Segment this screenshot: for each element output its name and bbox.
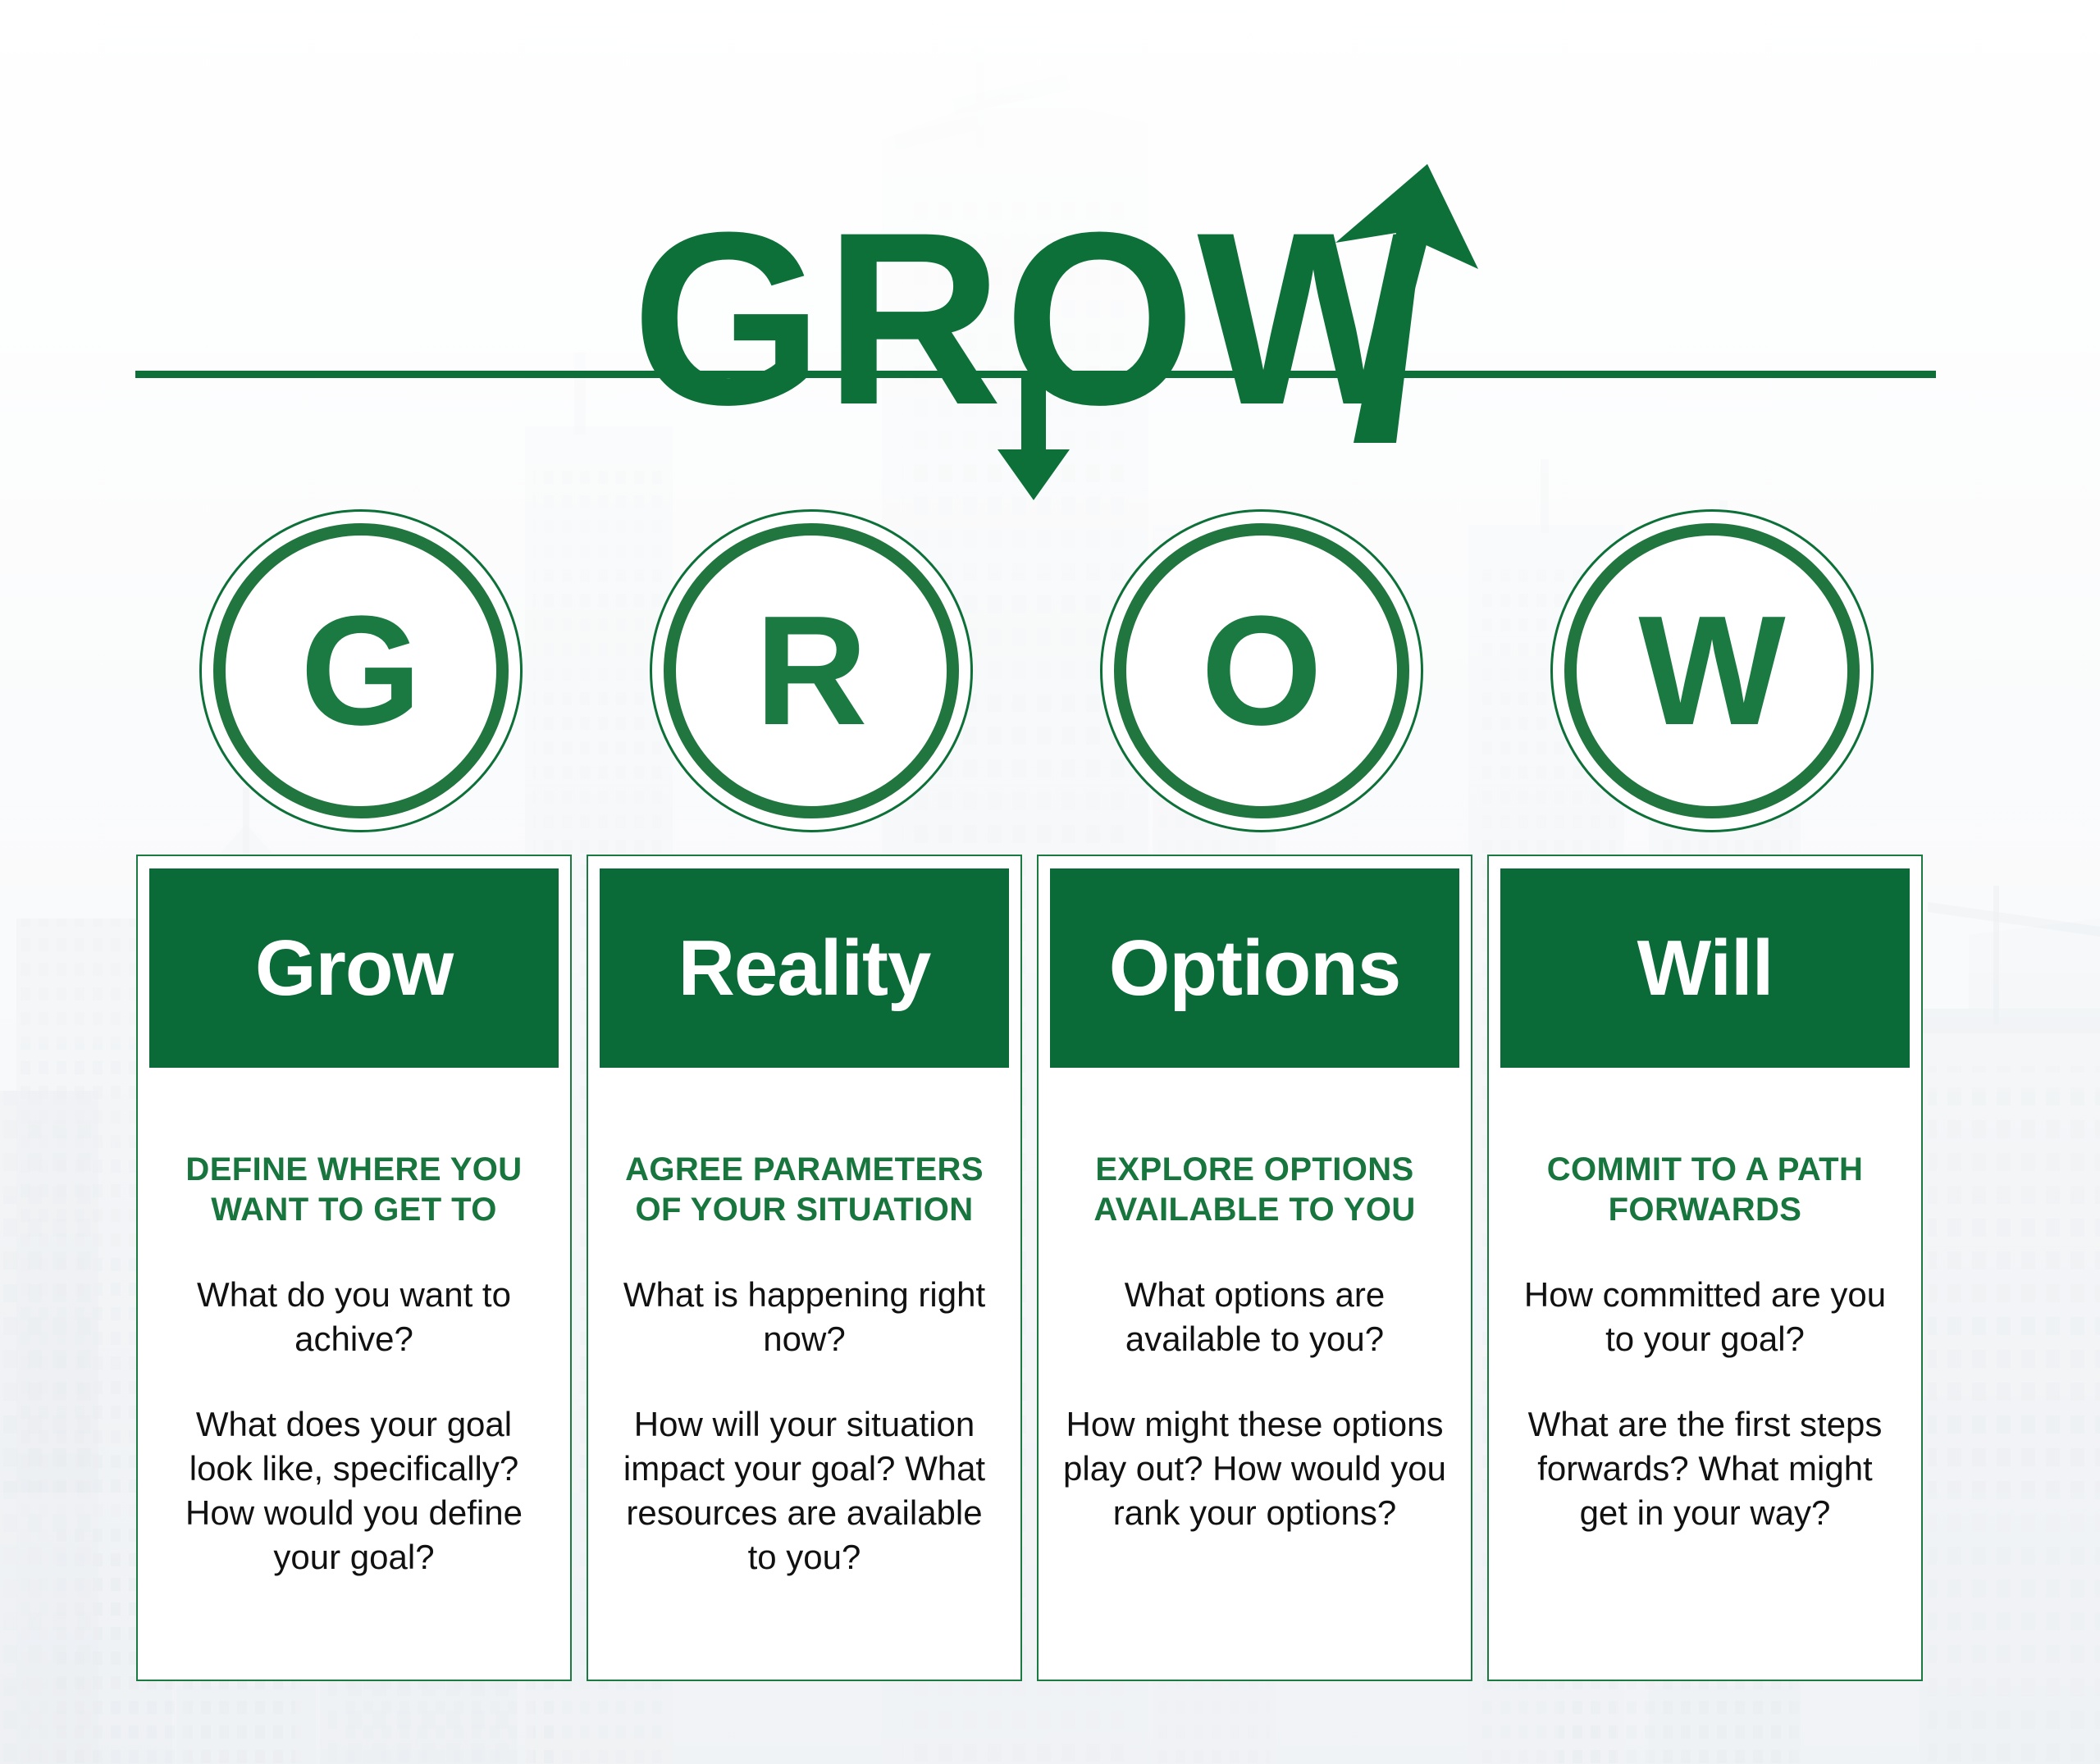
card-will[interactable]: Will COMMIT TO A PATH FORWARDS How commi… — [1487, 855, 1923, 1681]
card-paragraph-1: What options are available to you? — [1062, 1273, 1448, 1361]
card-options[interactable]: Options EXPLORE OPTIONS AVAILABLE TO YOU… — [1037, 855, 1472, 1681]
circle-letter-g: G — [300, 593, 422, 749]
letter-circle-row: G R O W — [136, 507, 1937, 835]
down-arrow-icon — [994, 376, 1073, 500]
card-header-label: Reality — [678, 928, 931, 1010]
circle-cell-r: R — [587, 507, 1036, 835]
card-header-reality: Reality — [600, 868, 1009, 1068]
card-paragraph-1: How committed are you to your goal? — [1513, 1273, 1898, 1361]
up-arrow-icon — [1304, 164, 1518, 443]
circle-cell-w: W — [1487, 507, 1937, 835]
card-row: Grow DEFINE WHERE YOU WANT TO GET TO Wha… — [136, 855, 1937, 1683]
card-paragraph-2: How will your situation impact your goal… — [612, 1402, 997, 1579]
card-paragraph-1: What do you want to achive? — [162, 1273, 547, 1361]
card-paragraph-1: What is happening right now? — [612, 1273, 997, 1361]
circle-letter-o: O — [1201, 593, 1322, 749]
card-header-options: Options — [1050, 868, 1459, 1068]
card-subtitle-will: COMMIT TO A PATH FORWARDS — [1521, 1150, 1890, 1230]
card-paragraph-2: How might these options play out? How wo… — [1062, 1402, 1448, 1535]
card-paragraph-2: What are the first steps forwards? What … — [1513, 1402, 1898, 1535]
card-header-label: Options — [1109, 928, 1401, 1010]
card-subtitle-reality: AGREE PARAMETERS OF YOUR SITUATION — [620, 1150, 989, 1230]
letter-circle-r[interactable]: R — [650, 509, 973, 832]
card-header-grow: Grow — [149, 868, 559, 1068]
card-header-label: Grow — [255, 928, 453, 1010]
letter-circle-g[interactable]: G — [199, 509, 523, 832]
title-block: GROW — [0, 98, 2100, 377]
letter-circle-w[interactable]: W — [1550, 509, 1874, 832]
circle-letter-w: W — [1638, 593, 1785, 749]
card-reality[interactable]: Reality AGREE PARAMETERS OF YOUR SITUATI… — [587, 855, 1022, 1681]
circle-cell-g: G — [136, 507, 586, 835]
circle-letter-r: R — [755, 593, 867, 749]
card-header-will: Will — [1500, 868, 1910, 1068]
card-header-label: Will — [1637, 928, 1774, 1010]
letter-circle-o[interactable]: O — [1100, 509, 1423, 832]
circle-cell-o: O — [1037, 507, 1486, 835]
card-paragraph-2: What does your goal look like, specifica… — [162, 1402, 547, 1579]
card-grow[interactable]: Grow DEFINE WHERE YOU WANT TO GET TO Wha… — [136, 855, 572, 1681]
card-subtitle-grow: DEFINE WHERE YOU WANT TO GET TO — [170, 1150, 539, 1230]
card-subtitle-options: EXPLORE OPTIONS AVAILABLE TO YOU — [1071, 1150, 1440, 1230]
